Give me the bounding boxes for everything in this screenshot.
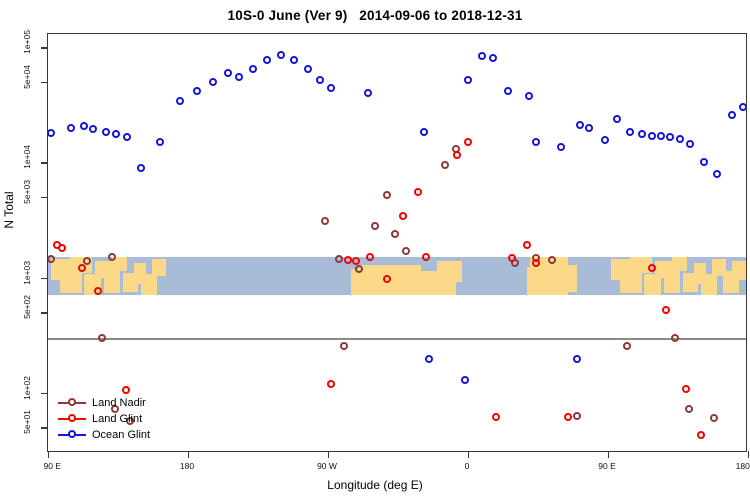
data-point-ocean-glint (557, 143, 565, 151)
data-point-ocean-glint (420, 128, 428, 136)
data-point-ocean-glint (666, 133, 674, 141)
data-point-land-glint (78, 264, 86, 272)
data-point-land-glint (697, 431, 705, 439)
data-point-ocean-glint (277, 51, 285, 59)
data-point-land-glint (352, 257, 360, 265)
data-point-ocean-glint (249, 65, 257, 73)
data-point-ocean-glint (700, 158, 708, 166)
data-point-land-nadir (402, 247, 410, 255)
data-point-ocean-glint (478, 52, 486, 60)
data-point-ocean-glint (728, 111, 736, 119)
y-tick-label: 1e+04 (22, 145, 32, 169)
x-tick-label: 180 (736, 461, 750, 471)
data-point-land-glint (508, 254, 516, 262)
data-point-land-glint (58, 244, 66, 252)
x-tick-label: 90 W (317, 461, 337, 471)
y-tick-label: 5e+04 (22, 65, 32, 89)
data-point-ocean-glint (601, 136, 609, 144)
data-point-ocean-glint (686, 140, 694, 148)
map-landmass (152, 259, 166, 276)
data-point-ocean-glint (304, 65, 312, 73)
data-point-ocean-glint (327, 84, 335, 92)
x-tick (188, 451, 189, 458)
data-point-land-glint (464, 138, 472, 146)
data-point-land-glint (366, 253, 374, 261)
x-tick (608, 451, 609, 458)
data-point-land-glint (122, 386, 130, 394)
legend-label: Ocean Glint (92, 429, 150, 441)
data-point-land-nadir (335, 255, 343, 263)
data-point-land-nadir (108, 253, 116, 261)
data-point-land-glint (492, 413, 500, 421)
data-point-land-glint (453, 151, 461, 159)
data-point-land-glint (564, 413, 572, 421)
data-point-ocean-glint (67, 124, 75, 132)
y-axis-title: N Total (2, 191, 16, 228)
data-point-ocean-glint (585, 124, 593, 132)
data-point-ocean-glint (316, 76, 324, 84)
data-point-land-nadir (548, 256, 556, 264)
map-landmass (527, 267, 539, 296)
data-point-land-glint (414, 188, 422, 196)
data-point-land-glint (94, 287, 102, 295)
chart-legend: Land NadirLand GlintOcean Glint (58, 395, 150, 443)
y-tick-label: 1e+05 (22, 30, 32, 54)
data-point-ocean-glint (648, 132, 656, 140)
data-point-land-glint (648, 264, 656, 272)
data-point-land-glint (399, 212, 407, 220)
data-point-ocean-glint (739, 103, 746, 111)
data-point-ocean-glint (713, 170, 721, 178)
y-tick-label: 5e+02 (22, 295, 32, 319)
legend-marker-icon (58, 429, 86, 441)
data-point-ocean-glint (89, 125, 97, 133)
data-point-ocean-glint (364, 89, 372, 97)
y-tick (41, 47, 48, 48)
y-tick (41, 197, 48, 198)
data-point-land-glint (383, 275, 391, 283)
data-point-ocean-glint (80, 122, 88, 130)
chart-canvas: 10S-0 June (Ver 9) 2014-09-06 to 2018-12… (0, 0, 750, 500)
y-tick (41, 82, 48, 83)
data-point-ocean-glint (576, 121, 584, 129)
map-landmass (664, 271, 680, 294)
legend-label: Land Nadir (92, 397, 146, 409)
x-tick (48, 451, 49, 458)
map-landmass (141, 274, 157, 295)
data-point-land-nadir (391, 230, 399, 238)
legend-item[interactable]: Land Glint (58, 411, 150, 427)
x-tick-label: 90 E (44, 461, 62, 471)
data-point-ocean-glint (573, 355, 581, 363)
x-tick-label: 90 E (598, 461, 616, 471)
data-point-ocean-glint (48, 129, 55, 137)
data-point-ocean-glint (532, 138, 540, 146)
chart-title: 10S-0 June (Ver 9) 2014-09-06 to 2018-12… (0, 8, 750, 23)
data-point-ocean-glint (464, 76, 472, 84)
map-landmass (561, 265, 577, 292)
y-tick-label: 1e+03 (22, 261, 32, 285)
data-point-land-glint (422, 253, 430, 261)
data-point-ocean-glint (290, 56, 298, 64)
data-point-ocean-glint (137, 164, 145, 172)
map-landmass (672, 257, 688, 270)
x-axis-title: Longitude (deg E) (0, 478, 750, 492)
data-point-land-glint (662, 306, 670, 314)
map-landmass (701, 274, 717, 295)
plot-inner (48, 34, 746, 451)
data-point-ocean-glint (504, 87, 512, 95)
data-point-land-glint (532, 259, 540, 267)
data-point-land-nadir (371, 222, 379, 230)
data-point-land-nadir (98, 334, 106, 342)
data-point-ocean-glint (461, 376, 469, 384)
y-tick (41, 312, 48, 313)
data-point-land-nadir (355, 265, 363, 273)
data-point-land-nadir (573, 412, 581, 420)
data-point-ocean-glint (156, 138, 164, 146)
data-point-ocean-glint (209, 78, 217, 86)
reference-line (48, 338, 746, 340)
map-landmass (437, 261, 462, 282)
plot-area: Land NadirLand GlintOcean Glint (47, 33, 747, 452)
legend-marker-icon (58, 397, 86, 409)
x-tick-label: 180 (180, 461, 194, 471)
data-point-ocean-glint (626, 128, 634, 136)
data-point-land-nadir (685, 405, 693, 413)
x-tick (468, 451, 469, 458)
x-tick (328, 451, 329, 458)
data-point-ocean-glint (176, 97, 184, 105)
y-tick (41, 427, 48, 428)
data-point-land-nadir (321, 217, 329, 225)
x-tick-label: 0 (465, 461, 470, 471)
data-point-ocean-glint (123, 133, 131, 141)
y-tick-label: 5e+01 (22, 410, 32, 434)
data-point-ocean-glint (638, 130, 646, 138)
data-point-ocean-glint (657, 132, 665, 140)
data-point-ocean-glint (193, 87, 201, 95)
y-tick (41, 278, 48, 279)
legend-item[interactable]: Land Nadir (58, 395, 150, 411)
data-point-ocean-glint (224, 69, 232, 77)
map-landmass (732, 261, 746, 280)
legend-item[interactable]: Ocean Glint (58, 427, 150, 443)
data-point-ocean-glint (263, 56, 271, 64)
data-point-land-glint (523, 241, 531, 249)
data-point-land-nadir (623, 342, 631, 350)
data-point-land-nadir (441, 161, 449, 169)
y-tick-label: 1e+02 (22, 376, 32, 400)
data-point-ocean-glint (613, 115, 621, 123)
data-point-ocean-glint (489, 54, 497, 62)
data-point-land-nadir (383, 191, 391, 199)
data-point-ocean-glint (102, 128, 110, 136)
data-point-land-glint (344, 256, 352, 264)
data-point-ocean-glint (425, 355, 433, 363)
legend-label: Land Glint (92, 413, 142, 425)
legend-marker-icon (58, 413, 86, 425)
data-point-ocean-glint (235, 73, 243, 81)
y-tick (41, 393, 48, 394)
data-point-land-glint (682, 385, 690, 393)
data-point-ocean-glint (112, 130, 120, 138)
y-tick (41, 162, 48, 163)
data-point-ocean-glint (525, 92, 533, 100)
data-point-ocean-glint (676, 135, 684, 143)
data-point-land-nadir (340, 342, 348, 350)
map-landmass (104, 271, 120, 294)
data-point-land-nadir (671, 334, 679, 342)
y-tick-label: 5e+03 (22, 180, 32, 204)
data-point-land-glint (327, 380, 335, 388)
data-point-land-nadir (710, 414, 718, 422)
x-tick (748, 451, 749, 458)
